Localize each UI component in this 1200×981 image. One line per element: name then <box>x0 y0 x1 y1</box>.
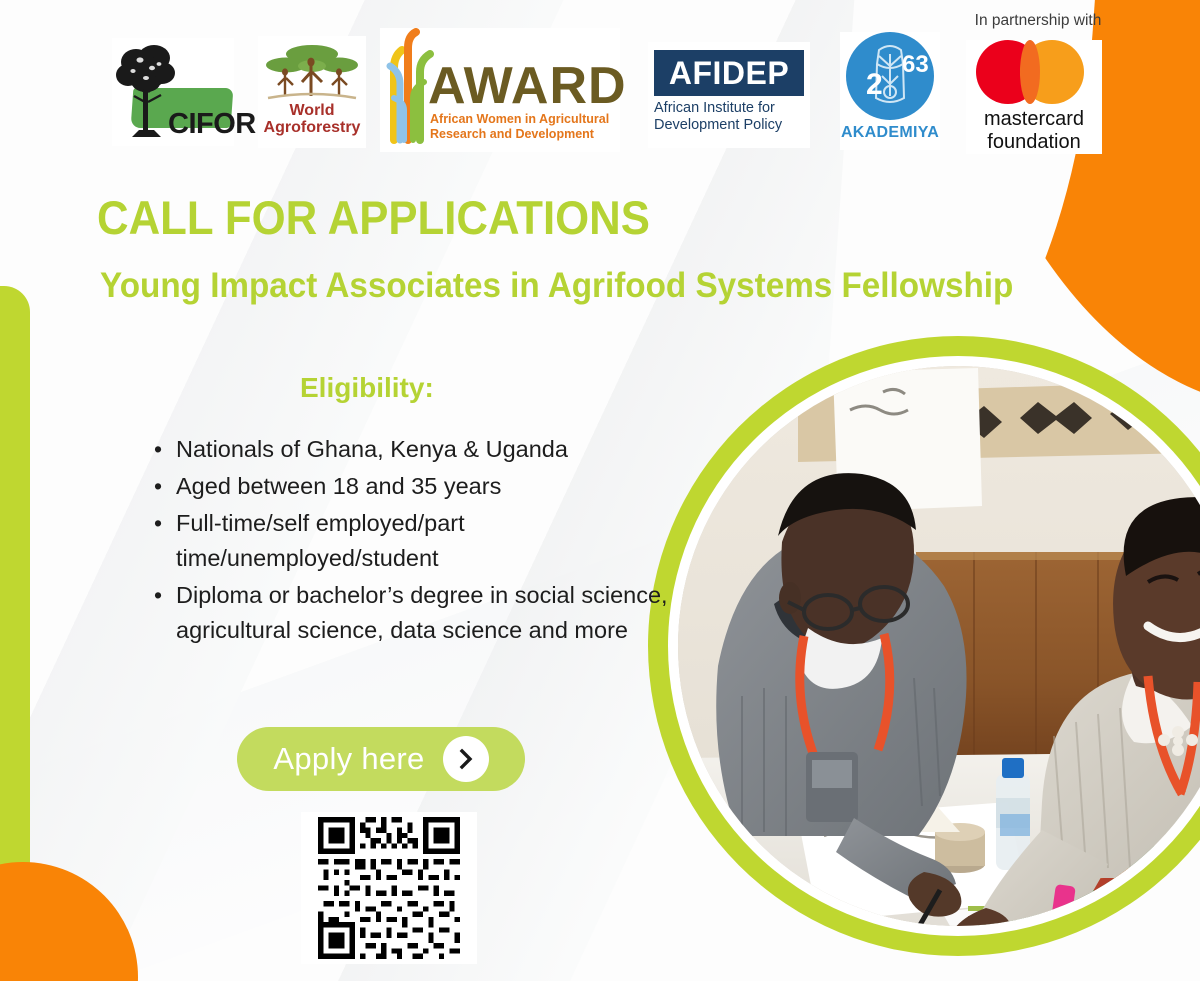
akademiya-circle-icon: 2 63 <box>846 32 934 120</box>
apply-here-button[interactable]: Apply here <box>237 727 525 791</box>
logo-afidep: AFIDEP African Institute for Development… <box>648 42 810 148</box>
list-item: Diploma or bachelor’s degree in social s… <box>176 578 676 648</box>
cifor-wordmark: CIFOR <box>168 108 256 141</box>
mastercard-line-2: foundation <box>966 131 1102 154</box>
afidep-tagline-line-1: African Institute for <box>654 100 810 117</box>
mastercard-overlap <box>1020 40 1040 104</box>
mastercard-wordmark: mastercard foundation <box>966 108 1102 154</box>
akademiya-mask-icon: 2 63 <box>846 32 934 120</box>
page-subtitle: Young Impact Associates in Agrifood Syst… <box>100 266 1013 306</box>
afidep-tagline: African Institute for Development Policy <box>654 100 810 134</box>
mastercard-circles-icon <box>976 40 1094 104</box>
svg-text:2: 2 <box>866 68 883 101</box>
in-partnership-with-label: In partnership with <box>958 12 1118 30</box>
green-left-band <box>0 286 30 906</box>
waf-line-1: World <box>258 102 366 119</box>
mastercard-line-1: mastercard <box>966 108 1102 131</box>
chevron-right-icon <box>443 736 489 782</box>
award-tagline: African Women in Agricultural Research a… <box>430 112 620 142</box>
world-agroforestry-wordmark: World Agroforestry <box>258 102 366 136</box>
afidep-wordmark-box: AFIDEP <box>654 50 804 96</box>
award-tagline-line-1: African Women in Agricultural <box>430 112 620 127</box>
waf-line-2: Agroforestry <box>258 119 366 136</box>
eligibility-heading: Eligibility: <box>300 372 434 404</box>
apply-here-label: Apply here <box>273 741 424 777</box>
award-wordmark: AWARD <box>428 56 627 116</box>
logo-akademiya2063: 2 63 AKADEMIYA <box>840 32 940 150</box>
page-title: CALL FOR APPLICATIONS <box>97 190 650 245</box>
svg-text:63: 63 <box>902 51 929 78</box>
list-item: Nationals of Ghana, Kenya & Uganda <box>176 432 676 467</box>
logo-mastercard-foundation: mastercard foundation <box>966 40 1102 154</box>
logo-world-agroforestry: World Agroforestry <box>258 36 366 148</box>
poster-canvas: CIFOR World Agroforestry <box>0 0 1200 981</box>
award-tagline-line-2: Research and Development <box>430 127 620 142</box>
acacia-trees-icon <box>262 38 362 108</box>
list-item: Aged between 18 and 35 years <box>176 469 676 504</box>
qr-code-icon[interactable] <box>301 812 477 964</box>
akademiya-wordmark: AKADEMIYA <box>840 124 940 142</box>
afidep-tagline-line-2: Development Policy <box>654 117 810 134</box>
eligibility-list: Nationals of Ghana, Kenya & Uganda Aged … <box>150 432 676 650</box>
logo-award: AWARD African Women in Agricultural Rese… <box>380 28 620 152</box>
afidep-wordmark: AFIDEP <box>669 55 789 92</box>
logo-cifor: CIFOR <box>112 38 234 146</box>
list-item: Full-time/self employed/part time/unempl… <box>176 506 676 576</box>
